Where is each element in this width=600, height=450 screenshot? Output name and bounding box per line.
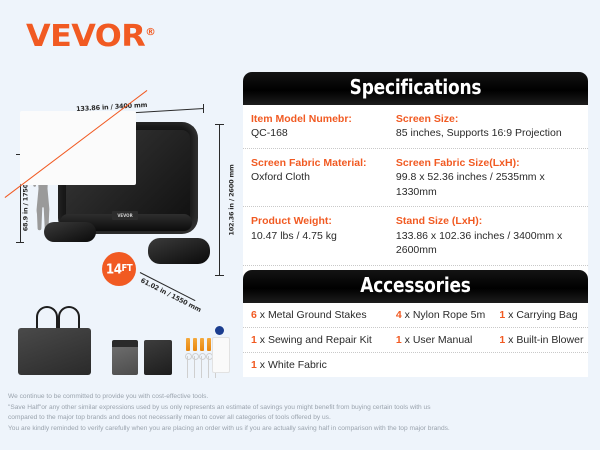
accessory-item: 4 x Nylon Rope 5m [388, 303, 492, 327]
product-illustration: 133.86 in / 3400 mm 102.36 in / 2600 mm … [0, 92, 243, 297]
brand-name: VEVOR [26, 19, 145, 54]
accessories-panel: Accessories 6 x Metal Ground Stakes 4 x … [243, 270, 588, 377]
width-tick-right [203, 104, 204, 113]
registered-mark: ® [145, 27, 155, 38]
accessory-sep: x [505, 334, 516, 346]
pouch-drawstring [112, 340, 138, 347]
spec-key: Screen Size: [396, 112, 588, 126]
height-tick-bottom [215, 275, 224, 276]
accessory-label: White Fabric [268, 359, 327, 371]
mesh-pouch-photo [112, 344, 138, 375]
accessory-item-empty [388, 353, 492, 377]
spec-cell: Stand Size (LxH): 133.86 x 102.36 inches… [388, 207, 588, 265]
accessory-item-empty [491, 353, 588, 377]
ground-stake-4 [207, 338, 211, 351]
spec-value: 99.8 x 52.36 inches / 2535mm x 1330mm [396, 170, 588, 199]
accessory-label: User Manual [413, 334, 473, 346]
nylon-rope-2 [194, 356, 195, 378]
accessory-label: Built-in Blower [516, 334, 583, 346]
right-support-foot [148, 238, 210, 264]
accessory-item: 1 x White Fabric [243, 353, 388, 377]
spec-cell: Screen Fabric Material: Oxford Cloth [243, 149, 388, 207]
nylon-rope-3 [201, 356, 202, 378]
spec-cell: Screen Size: 85 inches, Supports 16:9 Pr… [388, 105, 588, 148]
footer-line-2: "Save Half"or any other similar expressi… [8, 403, 594, 414]
manual-cover-dot [215, 326, 224, 335]
accessories-table: 6 x Metal Ground Stakes 4 x Nylon Rope 5… [243, 303, 588, 377]
accessories-header: Accessories [243, 270, 588, 303]
accessory-sep: x [257, 359, 268, 371]
accessory-sep: x [257, 309, 268, 321]
ground-stake-2 [193, 338, 197, 351]
spec-value: 85 inches, Supports 16:9 Projection [396, 126, 588, 141]
accessory-item: 1 x User Manual [388, 328, 492, 352]
accessory-sep: x [257, 334, 268, 346]
accessory-row: 1 x Sewing and Repair Kit 1 x User Manua… [243, 328, 588, 353]
badge-value: 14 [106, 261, 122, 277]
specifications-title: Specifications [350, 76, 482, 100]
user-manual-photo [212, 337, 230, 373]
nylon-rope-1 [187, 356, 188, 378]
spec-cell: Product Weight: 10.47 lbs / 4.75 kg [243, 207, 388, 265]
spec-key: Product Weight: [251, 214, 388, 228]
nylon-rope-4 [208, 356, 209, 378]
spec-key: Stand Size (LxH): [396, 214, 588, 228]
spec-value: QC-168 [251, 126, 388, 141]
left-support-foot [44, 222, 96, 242]
accessory-label: Carrying Bag [516, 309, 577, 321]
spec-value: 10.47 lbs / 4.75 kg [251, 229, 388, 244]
accessory-row: 1 x White Fabric [243, 353, 588, 377]
ground-stake-3 [200, 338, 204, 351]
accessories-title: Accessories [360, 274, 470, 298]
accessory-item: 1 x Built-in Blower [491, 328, 588, 352]
diagonal-size-badge: 14FT [102, 252, 136, 286]
accessory-label: Metal Ground Stakes [268, 309, 367, 321]
footer-line-4: You are kindly reminded to verify carefu… [8, 424, 594, 435]
spec-key: Item Model Numebr: [251, 112, 388, 126]
height-dimension-line [219, 124, 220, 276]
specifications-header: Specifications [243, 72, 588, 105]
accessory-item: 1 x Carrying Bag [491, 303, 588, 327]
spec-row: Screen Fabric Material: Oxford Cloth Scr… [243, 149, 588, 208]
accessory-label: Nylon Rope 5m [413, 309, 485, 321]
vevor-logo: VEVOR® [26, 22, 155, 52]
accessory-label: Sewing and Repair Kit [268, 334, 372, 346]
badge-unit: FT [122, 263, 133, 274]
ground-stake-1 [186, 338, 190, 351]
spec-cell: Item Model Numebr: QC-168 [243, 105, 388, 148]
spec-key: Screen Fabric Material: [251, 156, 388, 170]
height-dimension-label: 102.36 in / 2600 mm [228, 164, 236, 235]
accessory-item: 1 x Sewing and Repair Kit [243, 328, 388, 352]
footer-line-3: compared to the major top brands and doe… [8, 413, 594, 424]
spec-row: Item Model Numebr: QC-168 Screen Size: 8… [243, 105, 588, 149]
height-tick-top [215, 124, 224, 125]
spec-value: 133.86 x 102.36 inches / 3400mm x 2600mm [396, 229, 588, 258]
screen-brand-badge: VEVOR [112, 211, 138, 220]
person-tick-bottom [16, 242, 24, 243]
carrying-bag-photo [18, 328, 91, 375]
product-spec-page: VEVOR® 133.86 in / 3400 mm 102.36 in / 2… [0, 0, 600, 450]
accessory-row: 6 x Metal Ground Stakes 4 x Nylon Rope 5… [243, 303, 588, 328]
black-fabric-pouch-photo [144, 340, 172, 375]
spec-cell: Screen Fabric Size(LxH): 99.8 x 52.36 in… [388, 149, 588, 207]
accessory-sep: x [402, 309, 413, 321]
accessory-item: 6 x Metal Ground Stakes [243, 303, 388, 327]
spec-row: Product Weight: 10.47 lbs / 4.75 kg Stan… [243, 207, 588, 266]
footer-line-1: We continue to be committed to provide y… [8, 392, 594, 403]
accessory-sep: x [505, 309, 516, 321]
spec-value: Oxford Cloth [251, 170, 388, 185]
footer-disclaimer: We continue to be committed to provide y… [8, 392, 594, 435]
accessory-sep: x [402, 334, 413, 346]
accessory-photos [0, 300, 243, 388]
spec-key: Screen Fabric Size(LxH): [396, 156, 588, 170]
